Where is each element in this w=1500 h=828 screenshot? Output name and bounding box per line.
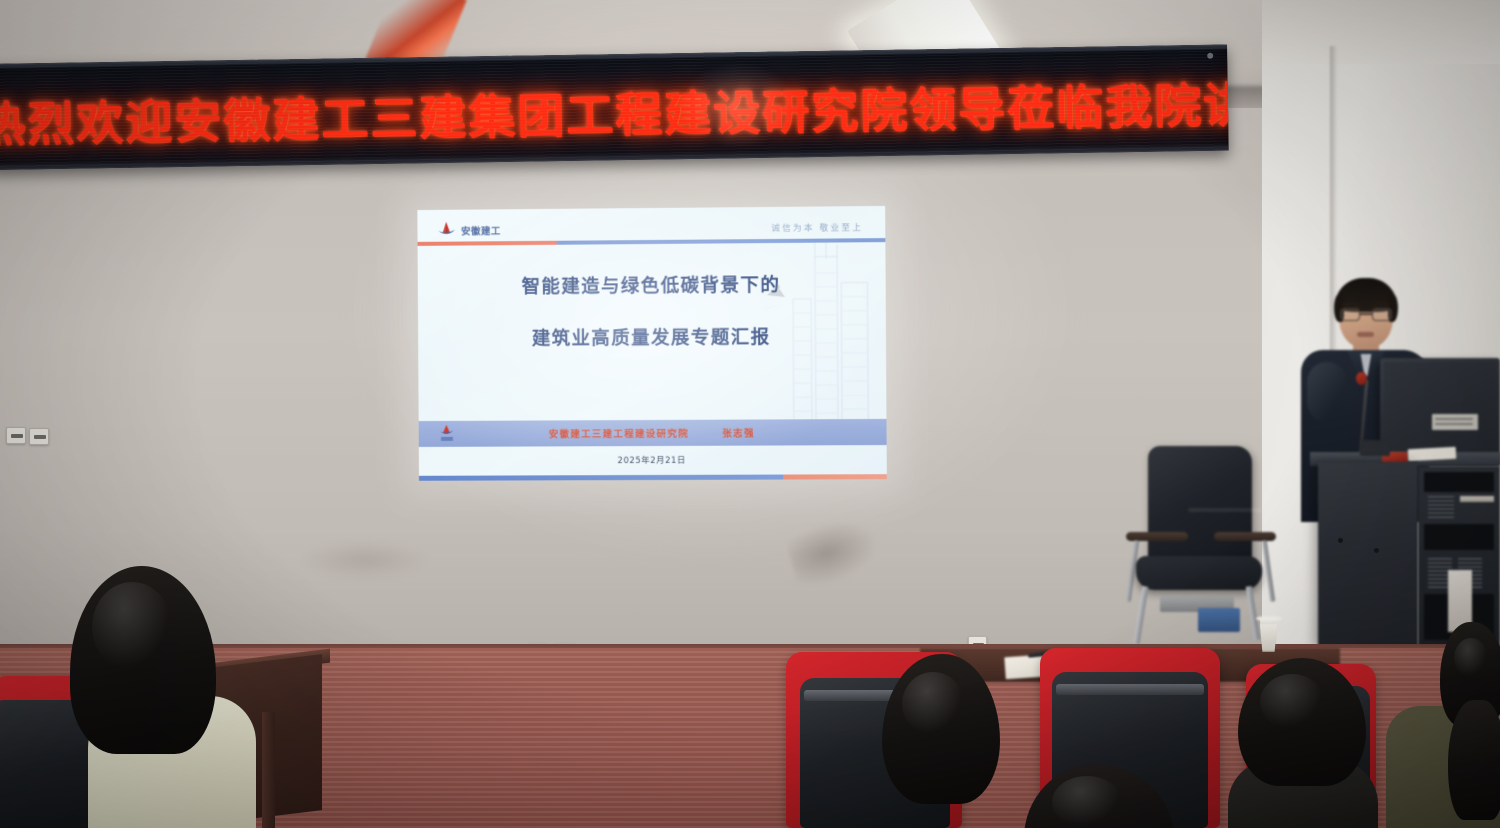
anhui-construction-logo-icon	[437, 222, 456, 239]
armrest-support	[1262, 540, 1276, 602]
slide-title-line-1: 智能建造与绿色低碳背景下的	[418, 276, 886, 298]
front-desk-leg	[262, 712, 275, 828]
audience-hair	[1448, 700, 1500, 820]
slide-slogan: 诚信为本 敬业至上	[771, 221, 863, 234]
chair-armrest	[1214, 532, 1276, 544]
monitor-screen[interactable]	[1384, 362, 1496, 452]
accent-segment-red	[418, 241, 557, 246]
hair-highlight	[1260, 674, 1324, 730]
audience-member-5	[1448, 700, 1500, 828]
rack-unit	[1424, 524, 1494, 550]
armrest-pad	[1214, 532, 1276, 541]
paper-cup-rim	[1256, 616, 1282, 621]
banner-glow	[0, 63, 1228, 148]
slide-footer-presenter: 张志强	[722, 429, 755, 440]
stage-blue-case	[1198, 608, 1240, 632]
presenter-glasses-icon	[1340, 308, 1392, 321]
slide-title-line-2: 建筑业高质量发展专题汇报	[418, 328, 886, 349]
anhui-construction-logo-icon	[439, 424, 454, 444]
rack-vent	[1428, 496, 1454, 518]
slide-date: 2025年2月21日	[419, 453, 887, 467]
banner-reflection	[677, 61, 798, 149]
audience-member-1	[878, 654, 1008, 828]
presenter-mouth	[1357, 332, 1374, 337]
slide-top-accent-bar	[418, 238, 886, 246]
chair-backrest	[1148, 446, 1252, 564]
slide-footer-text: 安徽建工三建工程建设研究院 张志强	[474, 425, 830, 441]
projected-slide: 安徽建工 诚信为本 敬业至上	[417, 206, 886, 481]
rack-unit	[1424, 472, 1494, 492]
slide-title-block: 智能建造与绿色低碳背景下的 建筑业高质量发展专题汇报	[418, 276, 886, 349]
hair-highlight	[92, 582, 172, 672]
presenter-eyebrow	[1373, 303, 1390, 306]
microphone-head-icon	[1356, 372, 1367, 385]
led-banner-text: 热烈欢迎安徽建工三建集团工程建设研究院领导莅临我院讲座	[0, 67, 1228, 156]
glasses-lens	[1372, 308, 1392, 321]
chair-crease	[1188, 508, 1262, 512]
wall-mark	[300, 540, 430, 580]
glasses-bridge	[1360, 313, 1372, 315]
podium-fastener	[1338, 538, 1343, 543]
hair-highlight	[1052, 776, 1122, 828]
seat-trim	[1056, 684, 1204, 695]
chair-armrest	[1126, 532, 1188, 544]
slide-footer-bar: 安徽建工三建工程建设研究院 张志强	[419, 419, 887, 447]
podium-fastener	[1374, 548, 1379, 553]
slide-footer-logo	[419, 421, 475, 447]
slide-logo: 安徽建工	[437, 221, 501, 238]
wall-outlet	[29, 428, 49, 445]
wall-outlet	[6, 427, 26, 444]
lecture-hall-photo: 热烈欢迎安徽建工三建集团工程建设研究院领导莅临我院讲座 安徽建工 诚信为本 敬业…	[0, 0, 1500, 828]
accent-segment-blue	[557, 238, 885, 245]
presenter-jacket-highlight	[1307, 362, 1347, 422]
audience-member-front-left	[48, 566, 248, 828]
led-banner: 热烈欢迎安徽建工三建集团工程建设研究院领导莅临我院讲座	[0, 45, 1229, 170]
rack-faceplate	[1460, 496, 1494, 502]
chair-seat	[1136, 556, 1262, 590]
right-wall-soffit	[1262, 0, 1500, 64]
banner-mount-screw	[1207, 53, 1213, 59]
audience-member-3	[1228, 658, 1378, 828]
slide-logo-label: 安徽建工	[461, 223, 501, 237]
chair-leg	[1134, 586, 1149, 644]
accent-segment-red	[783, 474, 887, 479]
hair-highlight	[1454, 638, 1488, 678]
audience-member-2	[1024, 764, 1184, 828]
slide-footer-spacer	[830, 419, 887, 445]
slide-footer-org: 安徽建工三建工程建设研究院	[549, 429, 689, 441]
monitor-sticker	[1432, 414, 1478, 430]
presenter-eyebrow	[1342, 303, 1359, 306]
glasses-lens	[1340, 308, 1360, 321]
desk-papers	[1408, 447, 1457, 461]
hair-highlight	[902, 672, 964, 736]
chair-leg	[1246, 586, 1260, 640]
desk-device	[1360, 440, 1390, 456]
